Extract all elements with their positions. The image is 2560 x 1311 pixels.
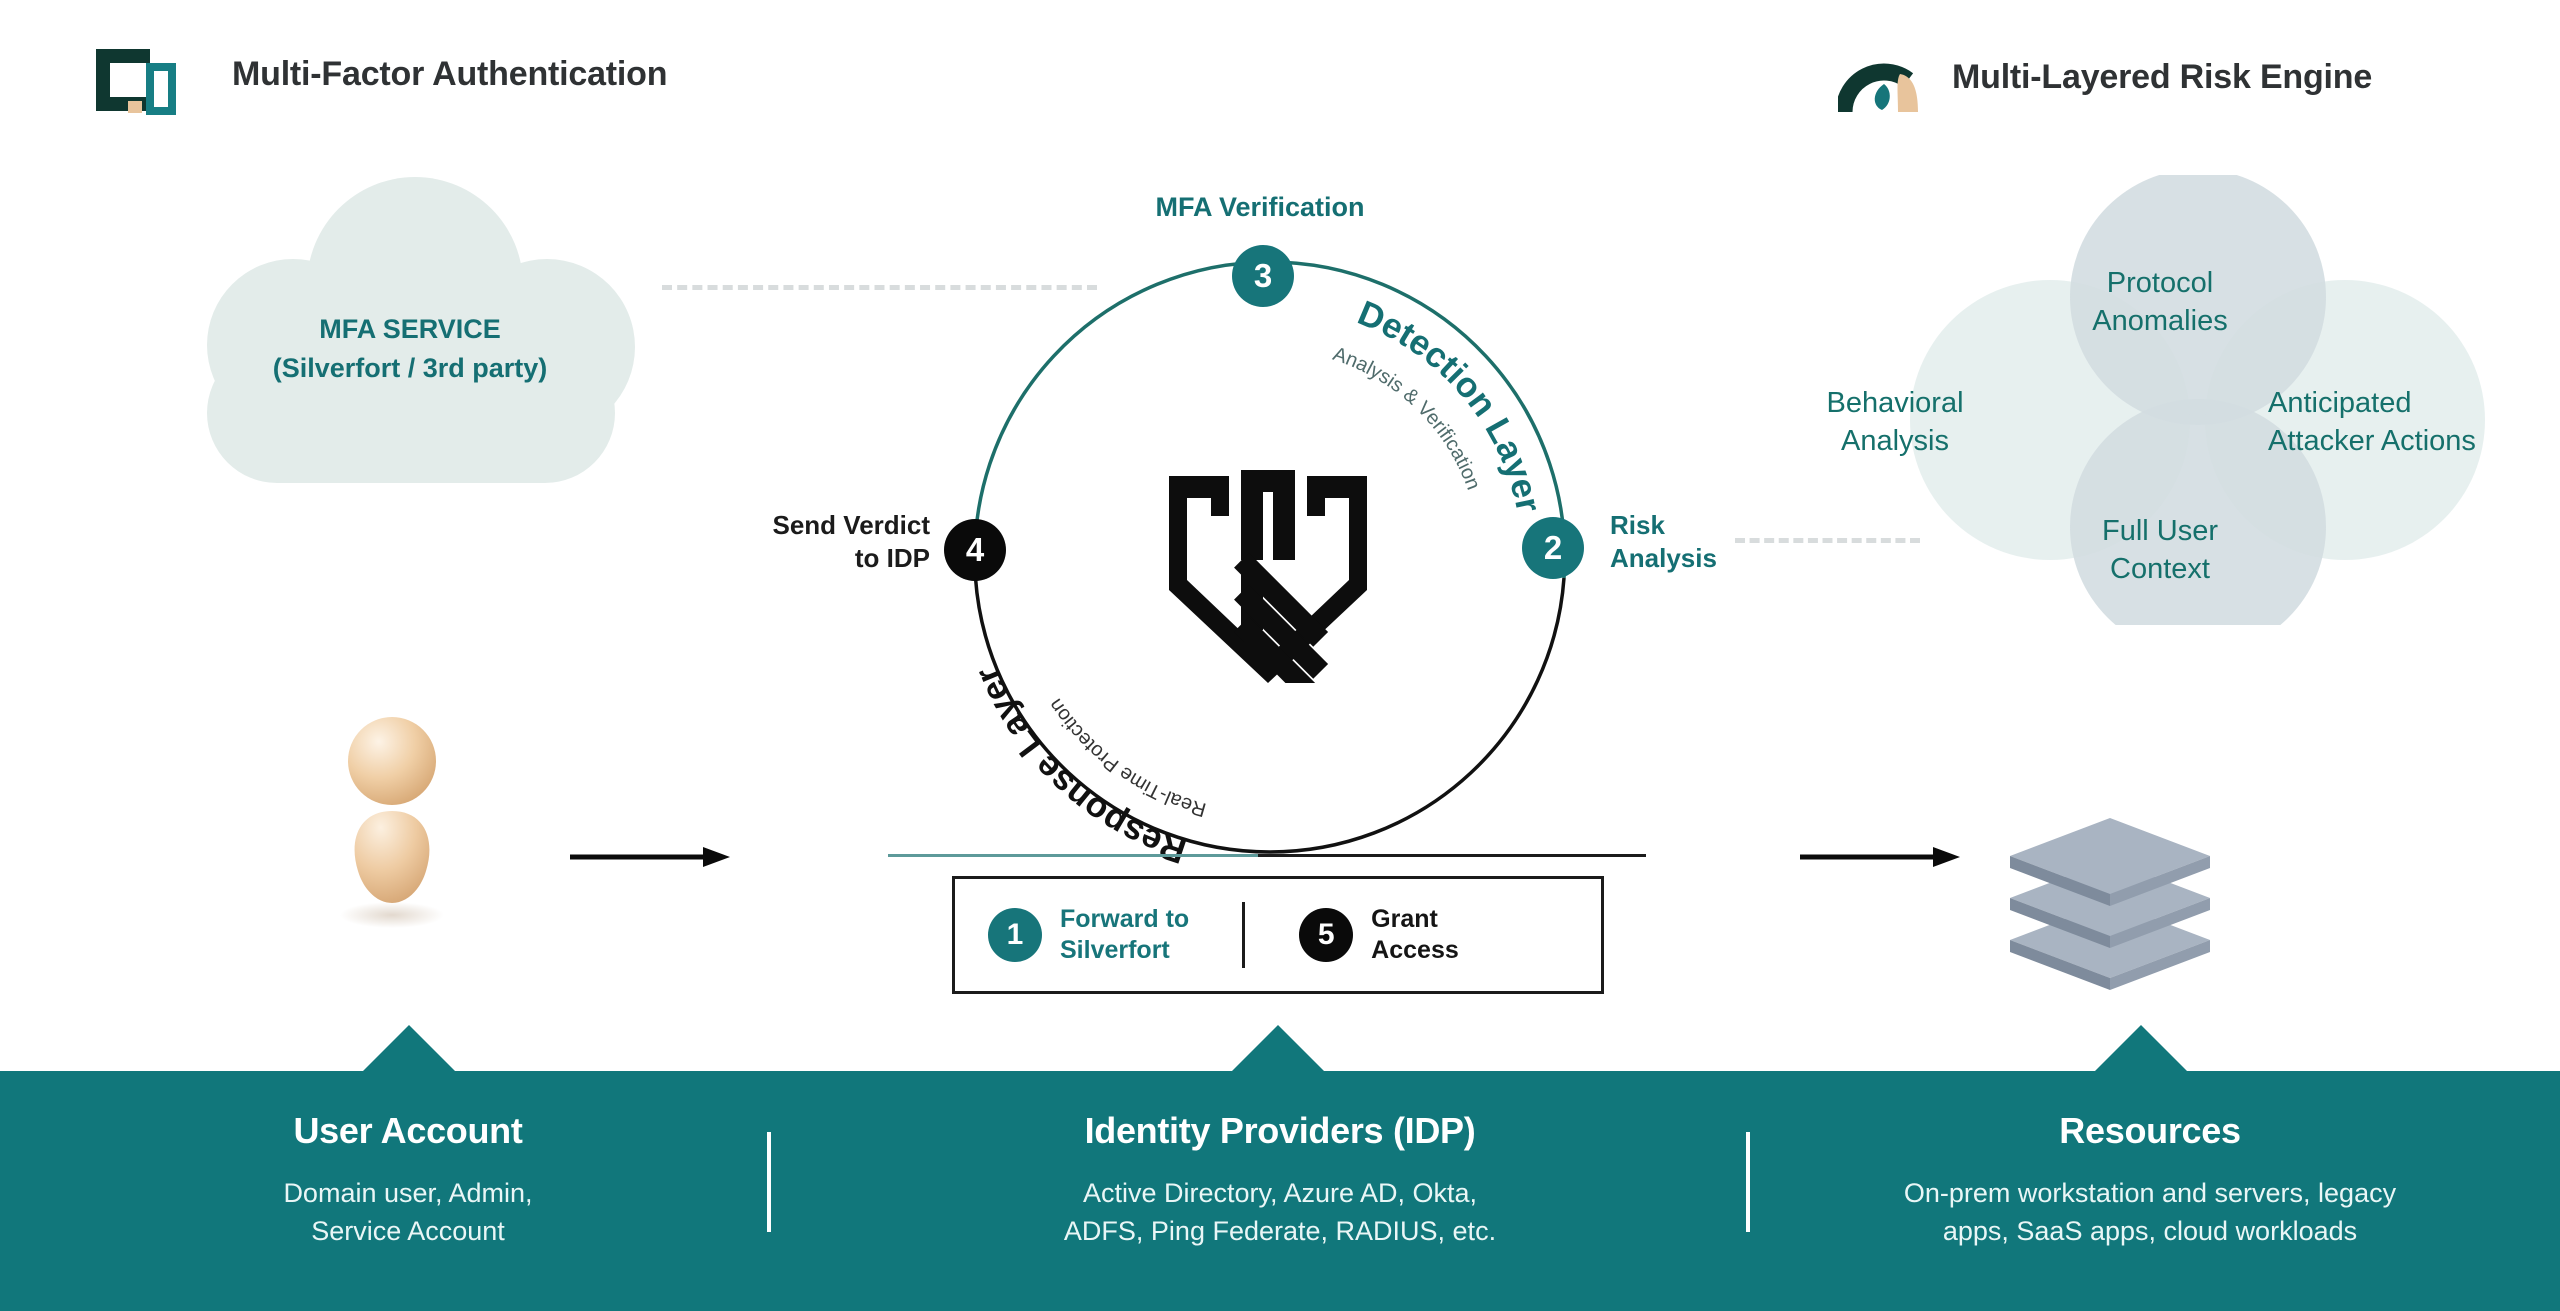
bottom-user-title: User Account (78, 1110, 738, 1152)
bottom-idp-sub-line1: Active Directory, Azure AD, Okta, (880, 1174, 1680, 1212)
silverfort-shield-icon (1165, 468, 1370, 683)
bottom-bar-divider-2 (1746, 1132, 1750, 1232)
mfa-service-line1: MFA SERVICE (175, 310, 645, 349)
label-risk-analysis-line1: Risk (1610, 509, 1830, 542)
legend-item-forward[interactable]: 1 Forward to Silverfort (988, 904, 1189, 967)
label-send-verdict-to-idp: Send Verdict to IDP (680, 509, 930, 574)
bottom-resources-sub-line1: On-prem workstation and servers, legacy (1790, 1174, 2510, 1212)
bottom-column-identity-providers: Identity Providers (IDP) Active Director… (880, 1110, 1680, 1251)
step-node-3[interactable]: 3 (1232, 245, 1294, 307)
legend-grant-line2: Access (1371, 935, 1459, 966)
venn-protocol-line1: Protocol (2035, 265, 2285, 303)
label-send-verdict-line1: Send Verdict (680, 509, 930, 542)
server-stack-icon (2000, 790, 2220, 990)
label-mfa-verification: MFA Verification (1050, 192, 1470, 223)
legend-label-grant: Grant Access (1371, 904, 1459, 967)
venn-anticipated-line1: Anticipated (2268, 385, 2560, 423)
venn-full-user-line2: Context (2035, 551, 2285, 589)
venn-anticipated-line2: Attacker Actions (2268, 423, 2560, 461)
legend-item-grant[interactable]: 5 Grant Access (1299, 904, 1459, 967)
mfa-service-line2: (Silverfort / 3rd party) (175, 349, 645, 388)
legend-grant-line1: Grant (1371, 904, 1459, 935)
venn-label-full-user-context: Full User Context (2035, 513, 2285, 588)
mfa-bracket-logo-icon (88, 45, 184, 115)
legend-dot-5: 5 (1299, 908, 1353, 962)
arrow-user-to-ring-icon (570, 845, 730, 869)
baseline-right (1258, 854, 1646, 857)
bottom-user-sub-line1: Domain user, Admin, (78, 1174, 738, 1212)
legend-dot-1: 1 (988, 908, 1042, 962)
venn-protocol-line2: Anomalies (2035, 303, 2285, 341)
user-person-icon (330, 715, 460, 935)
legend-divider (1242, 902, 1245, 968)
step-legend-box: 1 Forward to Silverfort 5 Grant Access (952, 876, 1604, 994)
bottom-idp-title: Identity Providers (IDP) (880, 1110, 1680, 1152)
step-node-2[interactable]: 2 (1522, 517, 1584, 579)
legend-forward-line2: Silverfort (1060, 935, 1189, 966)
bottom-bar-notch-resources (2095, 1025, 2187, 1071)
bottom-user-sub-line2: Service Account (78, 1212, 738, 1250)
bottom-idp-sub-line2: ADFS, Ping Federate, RADIUS, etc. (880, 1212, 1680, 1250)
bottom-bar-notch-user (363, 1025, 455, 1071)
legend-forward-line1: Forward to (1060, 904, 1189, 935)
bottom-resources-sub-line2: apps, SaaS apps, cloud workloads (1790, 1212, 2510, 1250)
baseline-left (888, 854, 1258, 857)
risk-gauge-logo-icon (1838, 50, 1934, 120)
venn-label-behavioral-analysis: Behavioral Analysis (1790, 385, 2000, 460)
bottom-user-subtitle: Domain user, Admin, Service Account (78, 1174, 738, 1251)
bottom-column-resources: Resources On-prem workstation and server… (1790, 1110, 2510, 1251)
bottom-idp-subtitle: Active Directory, Azure AD, Okta, ADFS, … (880, 1174, 1680, 1251)
venn-behavioral-line2: Analysis (1790, 423, 2000, 461)
bottom-resources-subtitle: On-prem workstation and servers, legacy … (1790, 1174, 2510, 1251)
arrow-ring-to-resources-icon (1800, 845, 1960, 869)
venn-label-protocol-anomalies: Protocol Anomalies (2035, 265, 2285, 340)
step-node-4[interactable]: 4 (944, 519, 1006, 581)
venn-label-anticipated-attacker-actions: Anticipated Attacker Actions (2268, 385, 2560, 460)
label-risk-analysis: Risk Analysis (1610, 509, 1830, 574)
label-send-verdict-line2: to IDP (680, 542, 930, 575)
page-title-mfa: Multi-Factor Authentication (232, 55, 667, 94)
page-title-risk-engine: Multi-Layered Risk Engine (1952, 58, 2372, 97)
venn-full-user-line1: Full User (2035, 513, 2285, 551)
legend-label-forward: Forward to Silverfort (1060, 904, 1189, 967)
label-risk-analysis-line2: Analysis (1610, 542, 1830, 575)
venn-behavioral-line1: Behavioral (1790, 385, 2000, 423)
bottom-bar-divider-1 (767, 1132, 771, 1232)
bottom-column-user-account: User Account Domain user, Admin, Service… (78, 1110, 738, 1251)
bottom-bar-notch-idp (1232, 1025, 1324, 1071)
bottom-resources-title: Resources (1790, 1110, 2510, 1152)
mfa-service-label: MFA SERVICE (Silverfort / 3rd party) (175, 310, 645, 388)
